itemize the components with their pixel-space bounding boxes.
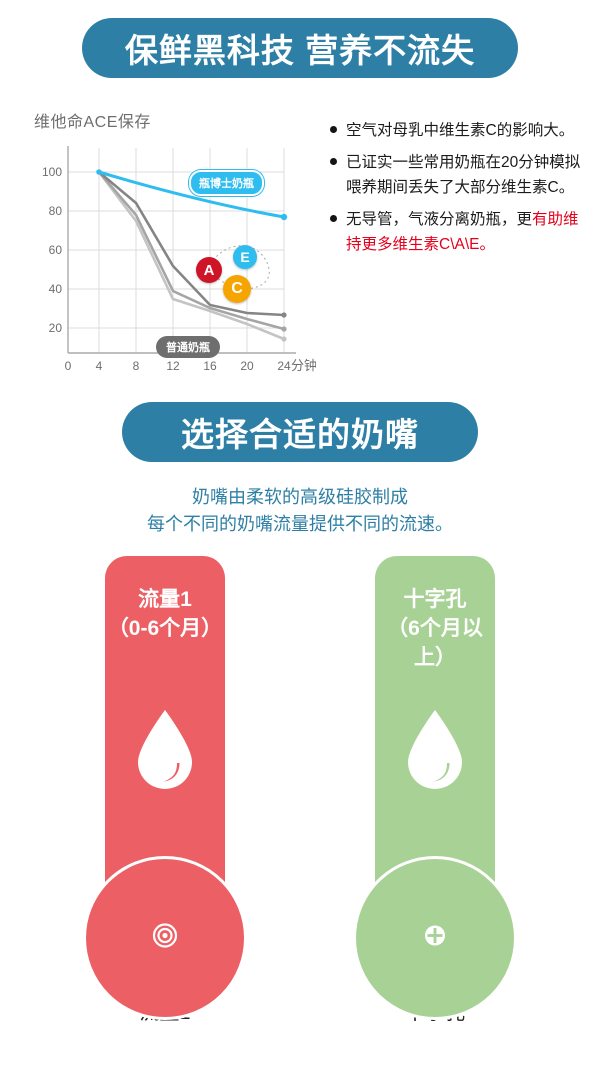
list-item: 已证实一些常用奶瓶在20分钟模拟喂养期间丢失了大部分维生素C。 xyxy=(330,150,586,200)
svg-text:40: 40 xyxy=(49,282,63,296)
vitamin-marker-c: C xyxy=(223,275,251,303)
chart-point-ordinary-a xyxy=(281,312,286,317)
hero-title-pill: 保鲜黑科技 营养不流失 xyxy=(82,18,518,78)
svg-text:16: 16 xyxy=(203,359,217,373)
benefit-text-2: 已证实一些常用奶瓶在20分钟模拟喂养期间丢失了大部分维生素C。 xyxy=(346,150,586,200)
chart-legend-badge-drbottle: 瓶博士奶瓶 xyxy=(189,170,264,196)
svg-text:0: 0 xyxy=(65,359,72,373)
svg-text:24: 24 xyxy=(277,359,291,373)
nipple-card-cross-title: 十字孔 xyxy=(375,586,495,615)
droplet-icon xyxy=(404,708,466,797)
nipple-options: 流量1 （0-6个月） xyxy=(0,556,600,976)
chart-point-drbottle-start xyxy=(96,169,102,175)
svg-text:8: 8 xyxy=(133,359,140,373)
chart-legend-badge-ordinary: 普通奶瓶 xyxy=(156,336,220,358)
section-subtitle: 奶嘴由柔软的高级硅胶制成 每个不同的奶嘴流量提供不同的流速。 xyxy=(0,484,600,538)
benefit-text-3-lead: 无导管，气液分离奶瓶，更 xyxy=(346,211,532,228)
nipple-hole-diagram-cross xyxy=(353,856,517,1020)
bullet-dot-icon xyxy=(330,158,337,165)
vitamin-retention-chart: 维他命ACE保存 xyxy=(26,108,316,373)
chart-point-ordinary-c xyxy=(281,336,286,341)
bullet-dot-icon xyxy=(330,126,337,133)
svg-text:4: 4 xyxy=(96,359,103,373)
list-item: 空气对母乳中维生素C的影响大。 xyxy=(330,118,586,143)
vitamin-marker-e-label: E xyxy=(240,249,249,265)
svg-text:100: 100 xyxy=(42,165,62,179)
benefits-list: 空气对母乳中维生素C的影响大。 已证实一些常用奶瓶在20分钟模拟喂养期间丢失了大… xyxy=(330,118,586,265)
chart-point-ordinary-b xyxy=(281,326,286,331)
section-title-text: 选择合适的奶嘴 xyxy=(181,408,419,456)
chart-title: 维他命ACE保存 xyxy=(34,108,316,132)
chart-y-ticklabels: 100 80 60 40 20 xyxy=(42,165,62,335)
nipple-card-cross-subtitle: （6个月以上） xyxy=(375,615,495,673)
vitamin-marker-e: E xyxy=(233,245,257,269)
svg-text:80: 80 xyxy=(49,204,63,218)
nipple-card-flow1-title: 流量1 xyxy=(105,586,225,615)
svg-text:12: 12 xyxy=(166,359,180,373)
section-subtitle-line1: 奶嘴由柔软的高级硅胶制成 xyxy=(0,484,600,511)
section-title-pill: 选择合适的奶嘴 xyxy=(122,402,478,462)
chart-xlabel: 分钟 xyxy=(291,358,316,373)
single-hole-icon xyxy=(152,923,178,954)
svg-text:20: 20 xyxy=(240,359,254,373)
nipple-card-flow1-subtitle: （0-6个月） xyxy=(105,615,225,644)
list-item: 无导管，气液分离奶瓶，更有助维持更多维生素C\A\E。 xyxy=(330,207,586,257)
nipple-card-flow1-heading: 流量1 （0-6个月） xyxy=(105,556,225,644)
chart-legend-label-ordinary: 普通奶瓶 xyxy=(166,342,210,354)
chart-legend-label-drbottle: 瓶博士奶瓶 xyxy=(199,178,254,190)
vitamin-marker-c-label: C xyxy=(231,280,243,298)
chart-x-ticklabels: 0 4 8 12 16 20 24 xyxy=(65,359,291,373)
benefit-text-1: 空气对母乳中维生素C的影响大。 xyxy=(346,118,574,143)
chart-point-drbottle-end xyxy=(281,214,287,220)
vitamin-marker-a-label: A xyxy=(204,262,215,279)
svg-text:60: 60 xyxy=(49,243,63,257)
product-detail-page: 保鲜黑科技 营养不流失 维他命ACE保存 xyxy=(0,0,600,1072)
chart-canvas: 100 80 60 40 20 0 4 8 12 16 20 24 分钟 xyxy=(26,138,316,376)
benefit-text-3: 无导管，气液分离奶瓶，更有助维持更多维生素C\A\E。 xyxy=(346,207,586,257)
hero-title-text: 保鲜黑科技 营养不流失 xyxy=(125,24,475,72)
nipple-card-cross[interactable]: 十字孔 （6个月以上） xyxy=(375,556,495,950)
vitamin-marker-a: A xyxy=(196,257,222,283)
bullet-dot-icon xyxy=(330,215,337,222)
droplet-icon xyxy=(134,708,196,797)
nipple-card-flow1[interactable]: 流量1 （0-6个月） xyxy=(105,556,225,950)
cross-hole-icon xyxy=(423,924,447,953)
section-subtitle-line2: 每个不同的奶嘴流量提供不同的流速。 xyxy=(0,511,600,538)
nipple-card-cross-heading: 十字孔 （6个月以上） xyxy=(375,556,495,673)
nipple-hole-diagram-flow1 xyxy=(83,856,247,1020)
svg-text:20: 20 xyxy=(49,321,63,335)
